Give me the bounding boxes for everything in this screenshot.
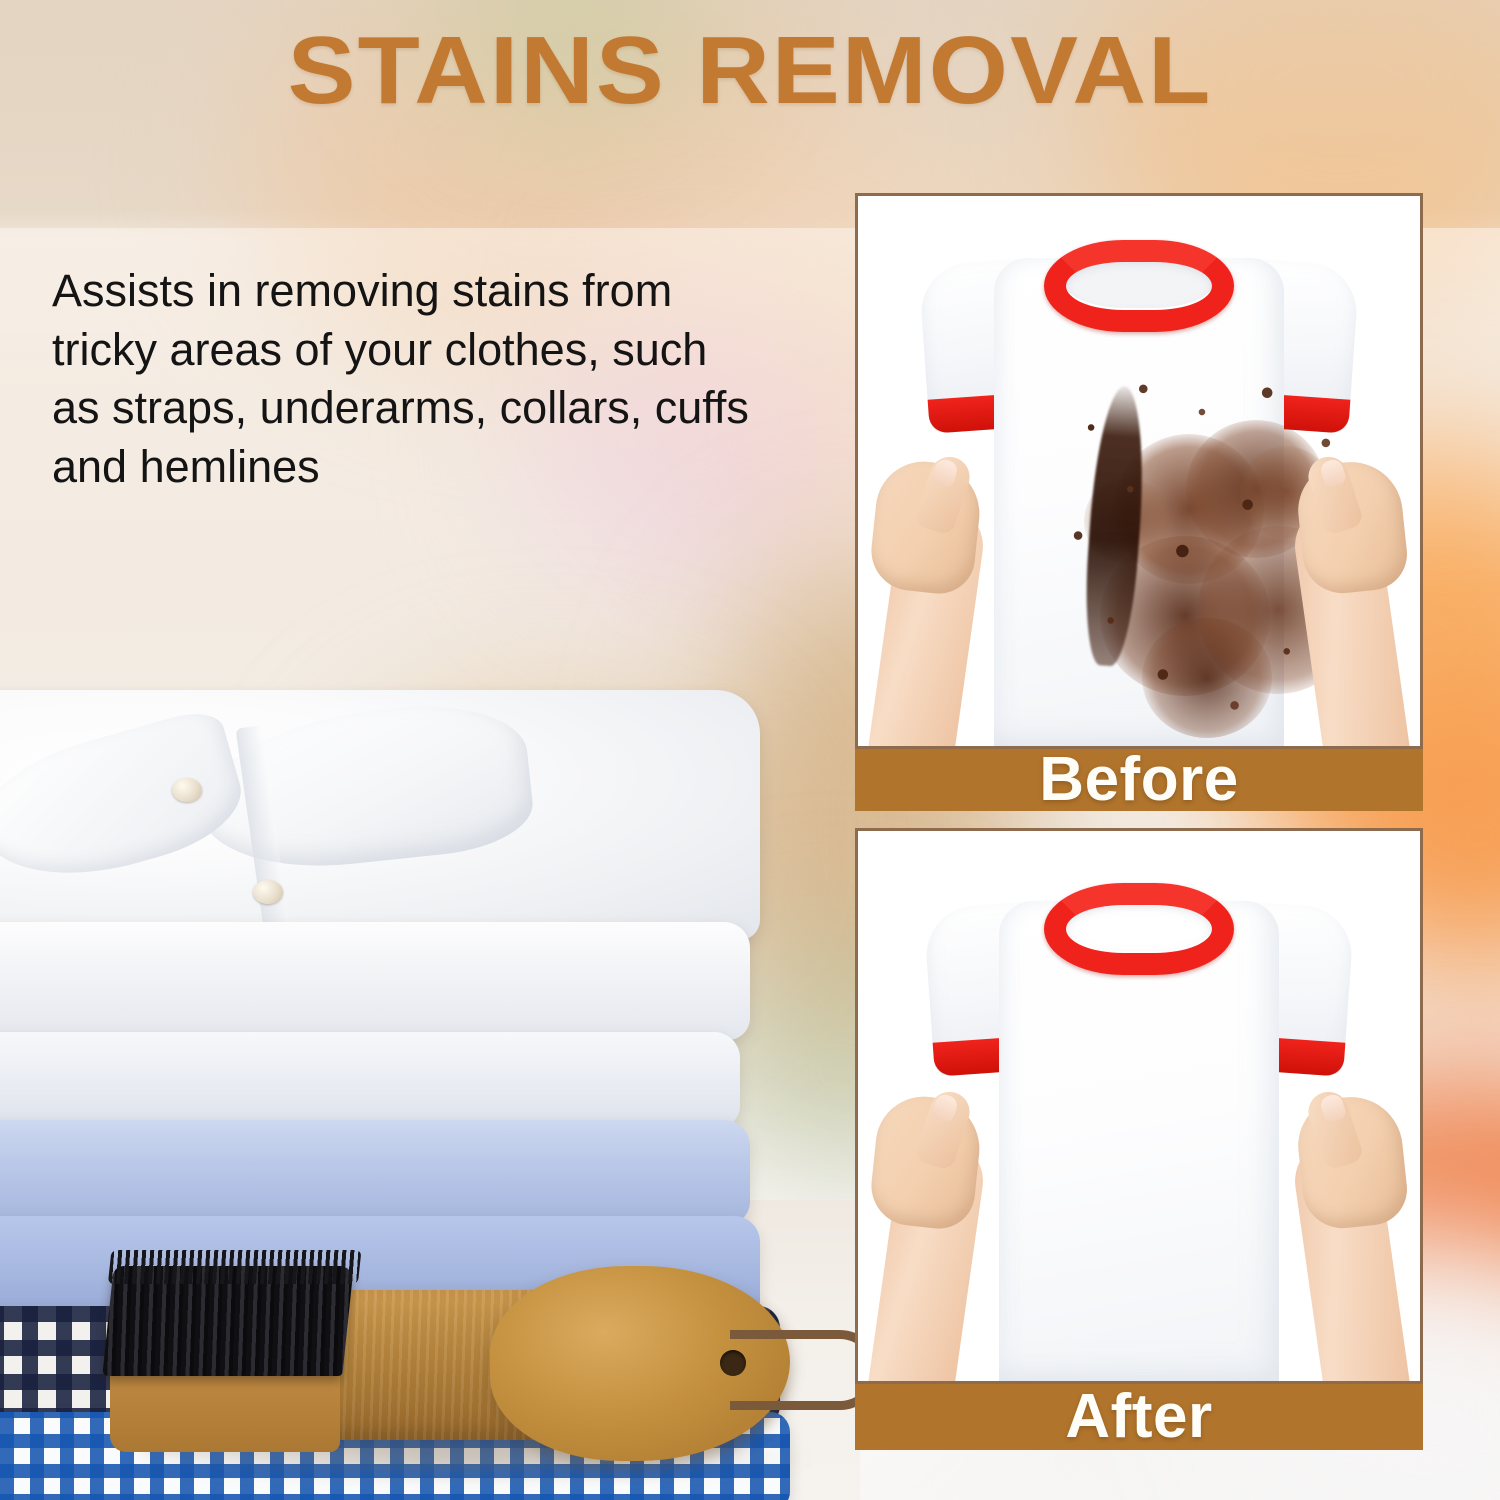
cleaning-brush	[60, 1238, 860, 1488]
before-panel: Before	[855, 193, 1423, 811]
after-panel: After	[855, 828, 1423, 1450]
tshirt-red-collar	[1044, 883, 1234, 975]
brush-bristles	[102, 1266, 354, 1376]
hand-left	[864, 1087, 1000, 1384]
description-text: Assists in removing stains from tricky a…	[52, 262, 752, 496]
before-scene	[858, 196, 1420, 746]
before-label: Before	[855, 749, 1423, 811]
folded-shirt-grey	[0, 1032, 740, 1128]
shirt-collar-wing	[0, 705, 253, 902]
after-scene	[858, 831, 1420, 1381]
shirt-button	[253, 880, 283, 904]
folded-shirt-blue-1	[0, 1120, 750, 1224]
hand-right	[1278, 1087, 1414, 1384]
tshirt-red-collar	[1044, 240, 1234, 332]
after-image	[855, 828, 1423, 1384]
after-label: After	[855, 1384, 1423, 1450]
folded-shirt-white-top	[0, 690, 760, 940]
page-title: STAINS REMOVAL	[0, 22, 1500, 120]
folded-shirt-white-2	[0, 922, 750, 1040]
hand-left	[864, 452, 1000, 749]
hand-right	[1278, 452, 1414, 749]
before-image	[855, 193, 1423, 749]
folded-shirt-stack	[0, 660, 800, 1300]
shirt-button	[172, 778, 202, 802]
brush-cord-hole	[720, 1350, 746, 1376]
